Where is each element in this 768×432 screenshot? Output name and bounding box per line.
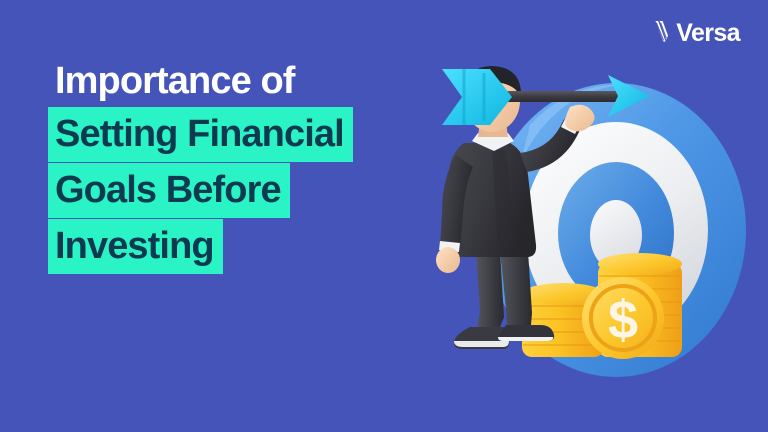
headline-line-4: Investing xyxy=(48,219,223,274)
dollar-coin-shape: $ xyxy=(582,277,664,359)
brand-logo[interactable]: Versa xyxy=(654,18,740,48)
hero-illustration: $ xyxy=(380,55,768,385)
headline-line-2: Setting Financial xyxy=(48,107,353,162)
svg-text:$: $ xyxy=(608,290,638,350)
brand-name: Versa xyxy=(676,21,740,46)
versa-v-monogram-icon xyxy=(654,18,677,49)
banner-canvas: Versa Importance of Setting Financial Go… xyxy=(0,0,768,432)
headline-line-3: Goals Before xyxy=(48,163,290,218)
